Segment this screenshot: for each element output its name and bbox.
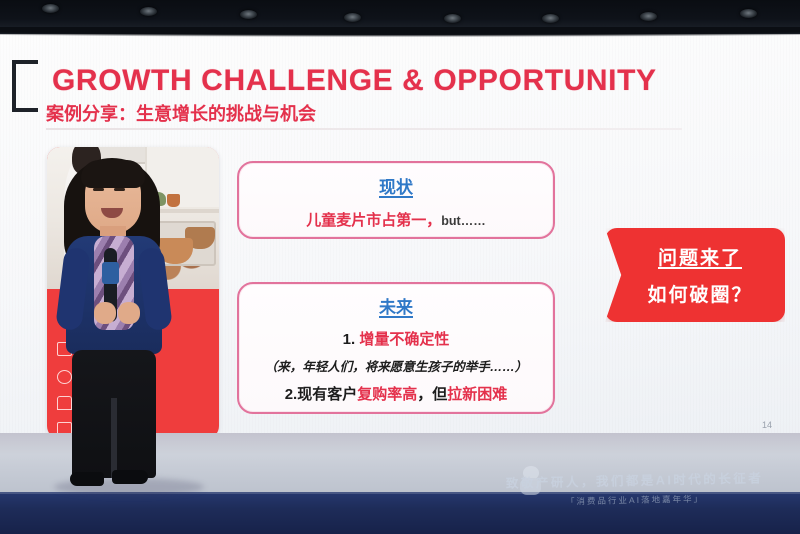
speaker-eye-left — [93, 188, 104, 191]
future-item-2-mid: ，但 — [417, 386, 447, 403]
future-item-2-number: 2. — [285, 386, 298, 403]
current-state-heading: 现状 — [239, 173, 553, 198]
speaker — [52, 152, 176, 492]
ceiling-spotlight — [240, 10, 257, 19]
current-state-line: 儿童麦片市占第一，but…… — [239, 209, 553, 230]
slide-title-english: GROWTH CHALLENGE & OPPORTUNITY — [52, 64, 657, 98]
future-item-1-note: （来，年轻人们，将来愿意生孩子的举手……） — [239, 356, 553, 375]
slide-subtitle-chinese: 案例分享：生意增长的挑战与机会 — [46, 100, 316, 126]
future-item-1: 1. 增量不确定性 — [239, 328, 553, 349]
ceiling-spotlight — [344, 13, 361, 22]
future-heading: 未来 — [239, 293, 553, 318]
ceiling-spotlight — [444, 14, 461, 23]
speaker-hand-right — [118, 302, 140, 324]
ceiling-spotlight — [740, 9, 757, 18]
stage-banner: 致敬产研人，我们都是AI时代的长征者 「消费品行业AI落地嘉年华」 — [506, 467, 764, 508]
future-item-2-highlight-1: 复购率高 — [357, 386, 417, 403]
future-item-1-text: 增量不确定性 — [359, 331, 449, 348]
callout-line-2: 如何破圈？ — [637, 280, 752, 307]
future-item-1-number: 1. — [343, 331, 356, 348]
ceiling-band — [0, 0, 800, 34]
title-divider — [46, 128, 682, 130]
ceiling-spotlight — [42, 4, 59, 13]
bracket-ornament — [12, 60, 38, 112]
current-state-box: 现状 儿童麦片市占第一，but…… — [237, 161, 555, 239]
slide-page-number: 14 — [762, 420, 772, 430]
speaker-fringe — [81, 160, 145, 188]
callout-line-1: 问题来了 — [648, 243, 742, 270]
speaker-hand-left — [94, 302, 116, 324]
speaker-shoe-left — [70, 472, 104, 486]
future-item-2-pre: 现有客户 — [297, 386, 357, 403]
ceiling-spotlight — [140, 7, 157, 16]
speaker-legs — [72, 350, 156, 478]
current-state-text-en: but…… — [441, 214, 485, 228]
question-callout: 问题来了 如何破圈？ — [605, 228, 785, 322]
conference-stage-photo: GROWTH CHALLENGE & OPPORTUNITY 案例分享：生意增长… — [0, 0, 800, 534]
speaker-eye-right — [114, 188, 125, 191]
future-item-2-highlight-2: 拉新困难 — [447, 386, 507, 403]
current-state-text-cn: 儿童麦片市占第一， — [306, 212, 441, 229]
future-box: 未来 1. 增量不确定性 （来，年轻人们，将来愿意生孩子的举手……） 2.现有客… — [237, 282, 555, 414]
ceiling-spotlight — [542, 14, 559, 23]
speaker-shoe-right — [112, 470, 148, 484]
stage-banner-main: 致敬产研人，我们都是AI时代的长征者 — [506, 467, 764, 491]
future-item-2: 2.现有客户复购率高，但拉新困难 — [239, 383, 553, 404]
ceiling-spotlight — [640, 12, 657, 21]
